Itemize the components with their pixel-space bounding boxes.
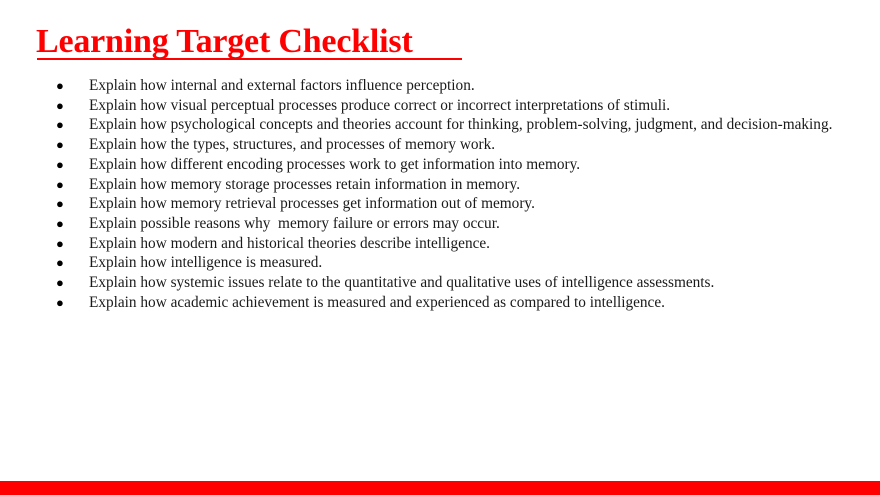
list-item-text: Explain how visual perceptual processes … bbox=[89, 96, 842, 115]
title-underline bbox=[37, 58, 462, 60]
list-item-text: Explain how different encoding processes… bbox=[89, 155, 842, 174]
bullet-point-icon: ● bbox=[56, 234, 70, 253]
page-title: Learning Target Checklist bbox=[36, 24, 413, 60]
bullet-point-icon: ● bbox=[56, 155, 70, 174]
list-item-text: Explain how systemic issues relate to th… bbox=[89, 273, 842, 292]
list-item-text: Explain how memory storage processes ret… bbox=[89, 175, 842, 194]
list-item-text: Explain how the types, structures, and p… bbox=[89, 135, 842, 154]
list-item: ● Explain how memory storage processes r… bbox=[52, 175, 842, 194]
list-item-text: Explain how memory retrieval processes g… bbox=[89, 194, 842, 213]
list-item: ● Explain how different encoding process… bbox=[52, 155, 842, 174]
list-item-text: Explain how academic achievement is meas… bbox=[89, 293, 842, 312]
bullet-point-icon: ● bbox=[56, 214, 70, 233]
list-item: ● Explain how the types, structures, and… bbox=[52, 135, 842, 154]
list-item-text: Explain how psychological concepts and t… bbox=[89, 115, 842, 134]
list-item: ● Explain how internal and external fact… bbox=[52, 76, 842, 95]
bullet-point-icon: ● bbox=[56, 135, 70, 154]
list-item: ● Explain how systemic issues relate to … bbox=[52, 273, 842, 292]
list-item-text: Explain how internal and external factor… bbox=[89, 76, 842, 95]
bullet-point-icon: ● bbox=[56, 175, 70, 194]
bullet-point-icon: ● bbox=[56, 293, 70, 312]
bullet-point-icon: ● bbox=[56, 76, 70, 95]
learning-target-list: ● Explain how internal and external fact… bbox=[52, 76, 842, 312]
list-item: ● Explain how intelligence is measured. bbox=[52, 253, 842, 272]
list-item: ● Explain possible reasons why memory fa… bbox=[52, 214, 842, 233]
list-item: ● Explain how visual perceptual processe… bbox=[52, 96, 842, 115]
list-item: ● Explain how modern and historical theo… bbox=[52, 234, 842, 253]
list-item-text: Explain how modern and historical theori… bbox=[89, 234, 842, 253]
slide-canvas: Learning Target Checklist ● Explain how … bbox=[0, 0, 880, 495]
list-item: ● Explain how psychological concepts and… bbox=[52, 115, 842, 134]
bullet-point-icon: ● bbox=[56, 194, 70, 213]
footer-accent-bar bbox=[0, 481, 880, 495]
list-item-text: Explain how intelligence is measured. bbox=[89, 253, 842, 272]
bullet-point-icon: ● bbox=[56, 273, 70, 292]
list-item: ● Explain how academic achievement is me… bbox=[52, 293, 842, 312]
bullet-point-icon: ● bbox=[56, 96, 70, 115]
list-item: ● Explain how memory retrieval processes… bbox=[52, 194, 842, 213]
list-item-text: Explain possible reasons why memory fail… bbox=[89, 214, 842, 233]
bullet-point-icon: ● bbox=[56, 253, 70, 272]
bullet-point-icon: ● bbox=[56, 115, 70, 134]
